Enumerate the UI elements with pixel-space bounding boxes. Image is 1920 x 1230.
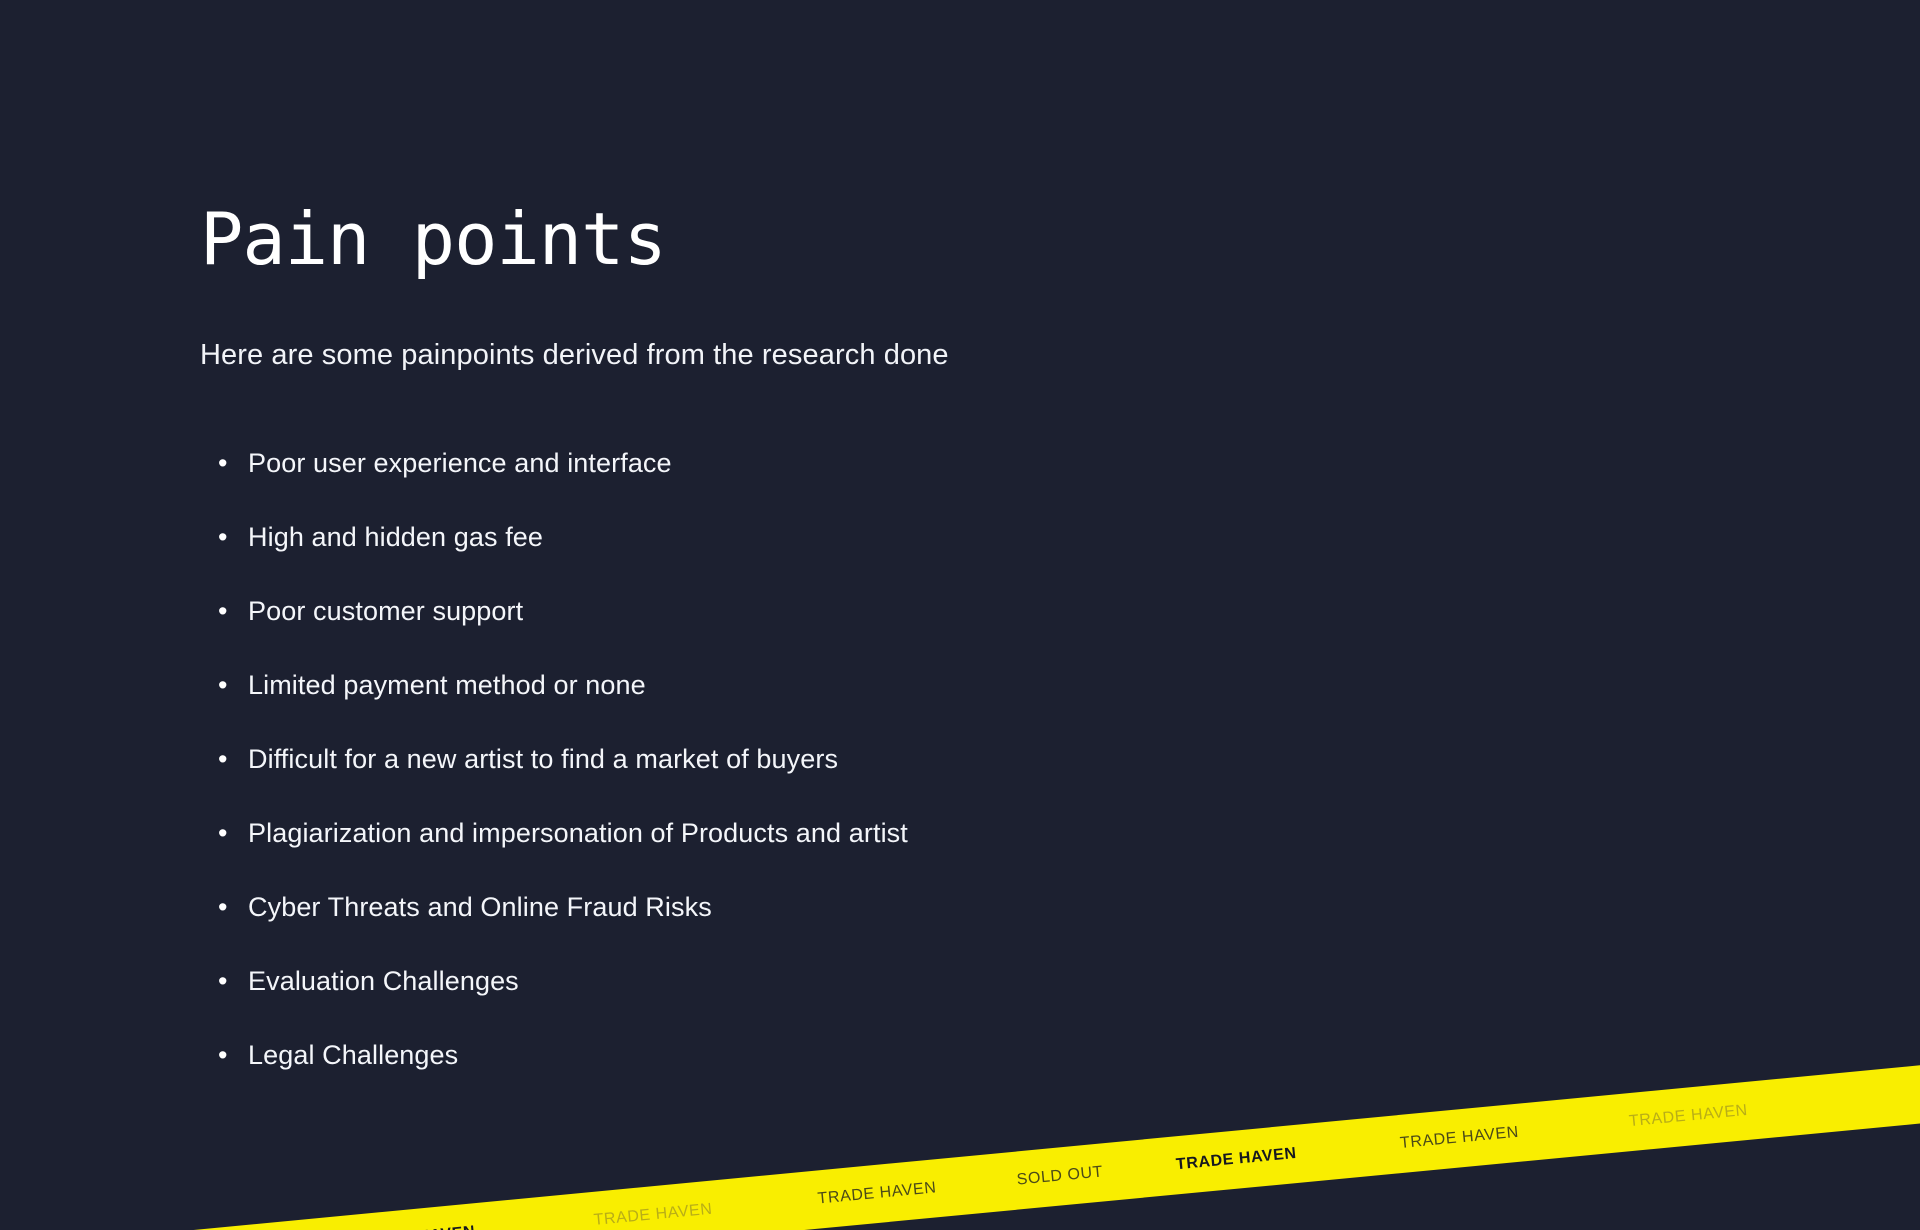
slide-canvas: Pain points Here are some painpoints der… [0, 0, 1920, 1230]
bullet-dot-icon: • [218, 814, 248, 852]
list-item-label: Evaluation Challenges [248, 962, 519, 1000]
list-item-label: Poor customer support [248, 592, 523, 630]
list-item-label: Cyber Threats and Online Fraud Risks [248, 888, 712, 926]
bullet-dot-icon: • [218, 740, 248, 778]
list-item: •Evaluation Challenges [218, 962, 908, 1036]
list-item: •Legal Challenges [218, 1036, 908, 1110]
list-item: •High and hidden gas fee [218, 518, 908, 592]
list-item-label: High and hidden gas fee [248, 518, 543, 556]
list-item: •Plagiarization and impersonation of Pro… [218, 814, 908, 888]
list-item: •Poor user experience and interface [218, 444, 908, 518]
bullet-dot-icon: • [218, 962, 248, 1000]
list-item: •Limited payment method or none [218, 666, 908, 740]
bullet-dot-icon: • [218, 592, 248, 630]
list-item-label: Limited payment method or none [248, 666, 646, 704]
list-item-label: Difficult for a new artist to find a mar… [248, 740, 838, 778]
tape-label: TRADE HAVEN [593, 1201, 713, 1230]
list-item: •Difficult for a new artist to find a ma… [218, 740, 908, 814]
bullet-dot-icon: • [218, 444, 248, 482]
list-item-label: Legal Challenges [248, 1036, 458, 1074]
tape-label: SOLD OUT [1016, 1163, 1104, 1189]
bullet-dot-icon: • [218, 888, 248, 926]
bullet-dot-icon: • [218, 1036, 248, 1074]
list-item-label: Plagiarization and impersonation of Prod… [248, 814, 908, 852]
tape-label: TRADE HAVEN [1399, 1124, 1519, 1153]
page-title: Pain points [200, 196, 666, 282]
painpoints-list: •Poor user experience and interface•High… [218, 444, 908, 1110]
slide-subtitle: Here are some painpoints derived from th… [200, 336, 949, 374]
list-item: •Cyber Threats and Online Fraud Risks [218, 888, 908, 962]
tape-label: TRADE HAVEN [1175, 1145, 1297, 1174]
list-item-label: Poor user experience and interface [248, 444, 672, 482]
list-item: •Poor customer support [218, 592, 908, 666]
tape-label: TRADE HAVEN [354, 1223, 476, 1230]
bullet-dot-icon: • [218, 666, 248, 704]
tape-label: TRADE HAVEN [1628, 1102, 1748, 1131]
bullet-dot-icon: • [218, 518, 248, 556]
tape-label: TRADE HAVEN [817, 1179, 937, 1208]
